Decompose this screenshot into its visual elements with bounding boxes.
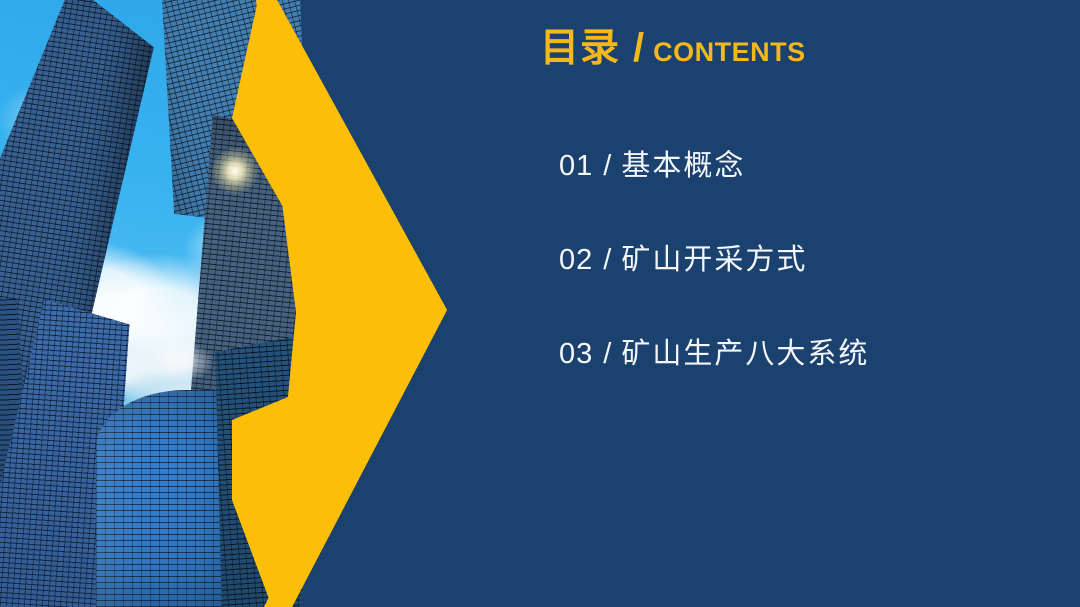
toc-number: 01 <box>559 150 593 183</box>
toc-item-03[interactable]: 03 / 矿山生产八大系统 <box>559 330 1029 382</box>
toc-number: 02 <box>559 244 593 277</box>
toc-label: 基本概念 <box>621 142 745 184</box>
toc-separator: / <box>603 150 611 183</box>
skyscraper-photo <box>0 0 340 607</box>
page-title: 目录 / CONTENTS <box>540 28 806 68</box>
table-of-contents: 01 / 基本概念 02 / 矿山开采方式 03 / 矿山生产八大系统 <box>559 142 1029 424</box>
toc-label: 矿山开采方式 <box>621 236 807 278</box>
page-title-separator: / <box>633 28 644 68</box>
presentation-slide: 目录 / CONTENTS 01 / 基本概念 02 / 矿山开采方式 03 /… <box>0 0 1080 607</box>
toc-separator: / <box>603 338 611 371</box>
slide-content: 目录 / CONTENTS 01 / 基本概念 02 / 矿山开采方式 03 /… <box>540 0 1060 607</box>
toc-item-02[interactable]: 02 / 矿山开采方式 <box>559 236 1029 288</box>
page-title-cn: 目录 <box>540 29 620 68</box>
toc-number: 03 <box>559 338 593 371</box>
toc-item-01[interactable]: 01 / 基本概念 <box>559 142 1029 194</box>
toc-label: 矿山生产八大系统 <box>621 330 869 372</box>
photo-shading-overlay <box>0 0 340 607</box>
toc-separator: / <box>603 244 611 277</box>
page-title-en: CONTENTS <box>653 39 806 66</box>
